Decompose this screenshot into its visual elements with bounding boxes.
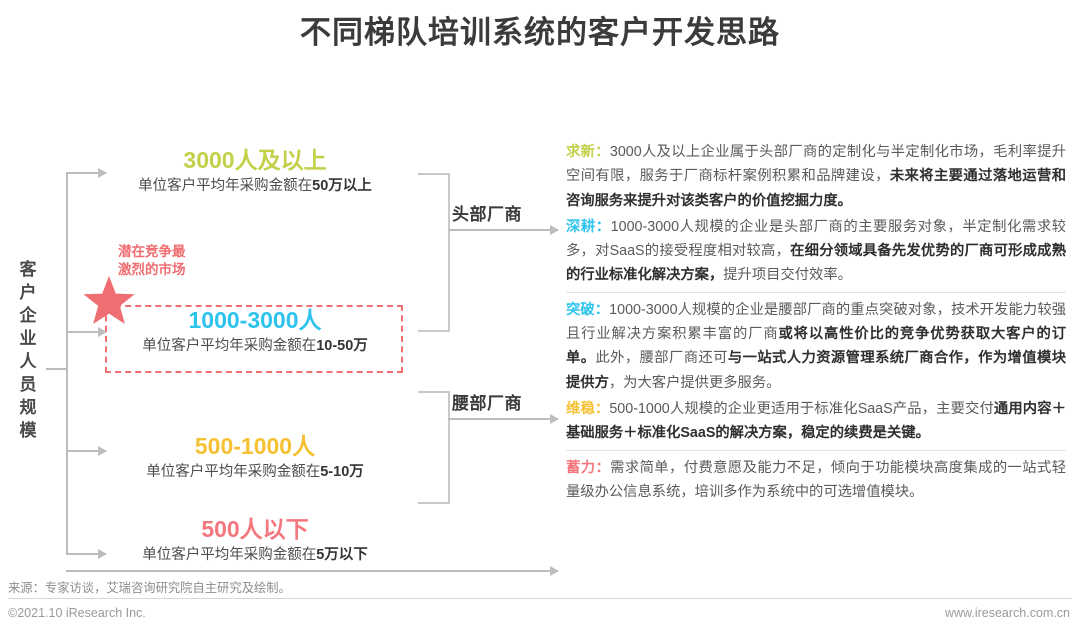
arrowhead-icon bbox=[550, 566, 559, 576]
paragraph-weiwen: 维稳：500-1000人规模的企业更适用于标准化SaaS产品，主要交付通用内容＋… bbox=[566, 397, 1066, 446]
branch-arrow-tier-4 bbox=[66, 553, 106, 555]
left-bracket-spine bbox=[66, 172, 68, 554]
group-bracket-bottom bbox=[418, 391, 450, 504]
paragraph-weiwen-normal-1: 500-1000人规模的企业更适用于标准化SaaS产品，主要交付 bbox=[609, 401, 994, 417]
tier-block-4: 500人以下 单位客户平均年采购金额在5万以下 bbox=[105, 515, 405, 566]
tier-2-desc-value: 10-50万 bbox=[316, 338, 368, 354]
paragraph-qiuxin: 求新：3000人及以上企业属于头部厂商的定制化与半定制化市场，毛利率提升空间有限… bbox=[566, 140, 1066, 213]
paragraph-qiuxin-tag: 求新： bbox=[566, 144, 610, 160]
tier-2-description: 单位客户平均年采购金额在10-50万 bbox=[105, 335, 405, 357]
paragraph-weiwen-tag: 维稳： bbox=[566, 401, 609, 417]
infographic-page: 不同梯队培训系统的客户开发思路 客户企业人员规模 3000人及以上 单位客户平均… bbox=[0, 0, 1080, 633]
panel-divider-2 bbox=[566, 450, 1066, 451]
copyright-text: ©2021.10 iResearch Inc. bbox=[8, 606, 146, 620]
panel-divider-1 bbox=[566, 292, 1066, 293]
tier-block-1: 3000人及以上 单位客户平均年采购金额在50万以上 bbox=[105, 146, 405, 197]
tier-4-title: 500人以下 bbox=[105, 515, 405, 543]
paragraph-tupo-normal-3: ，为大客户提供更多服务。 bbox=[609, 375, 781, 391]
arrow-to-waist-vendor-text bbox=[448, 418, 558, 420]
axis-label-company-size: 客户企业人员规模 bbox=[14, 258, 42, 442]
group-bracket-top bbox=[418, 173, 450, 332]
tier-3-desc-value: 5-10万 bbox=[320, 464, 364, 480]
branch-arrow-tier-2 bbox=[66, 331, 106, 333]
tier-1-description: 单位客户平均年采购金额在50万以上 bbox=[105, 175, 405, 197]
axis-connector-line bbox=[46, 368, 68, 370]
tier-2-desc-prefix: 单位客户平均年采购金额在 bbox=[142, 338, 316, 354]
branch-arrow-tier-3 bbox=[66, 450, 106, 452]
arrowhead-icon bbox=[550, 414, 559, 424]
tier-1-desc-prefix: 单位客户平均年采购金额在 bbox=[138, 178, 312, 194]
tier-3-desc-prefix: 单位客户平均年采购金额在 bbox=[146, 464, 320, 480]
tier-1-title: 3000人及以上 bbox=[105, 146, 405, 174]
paragraph-tupo: 突破：1000-3000人规模的企业是腰部厂商的重点突破对象，技术开发能力较强且… bbox=[566, 298, 1066, 395]
tier-4-description: 单位客户平均年采购金额在5万以下 bbox=[105, 544, 405, 566]
tier-block-2: 1000-3000人 单位客户平均年采购金额在10-50万 bbox=[105, 306, 405, 357]
group-label-waist-vendor: 腰部厂商 bbox=[452, 389, 522, 414]
paragraph-xuli-normal-1: 需求简单，付费意愿及能力不足，倾向于功能模块高度集成的一站式轻量级办公信息系统，… bbox=[566, 460, 1066, 500]
star-callout-line-1: 潜在竞争最 bbox=[118, 243, 186, 261]
arrow-to-head-vendor-text bbox=[448, 229, 558, 231]
tier-3-description: 单位客户平均年采购金额在5-10万 bbox=[105, 461, 405, 483]
paragraph-tupo-normal-2: 此外，腰部厂商还可 bbox=[595, 350, 727, 366]
tier-2-title: 1000-3000人 bbox=[105, 306, 405, 334]
paragraph-shengeng-normal-2: 提升项目交付效率。 bbox=[723, 267, 852, 283]
group-label-head-vendor: 头部厂商 bbox=[452, 200, 522, 225]
paragraph-xuli: 蓄力：需求简单，付费意愿及能力不足，倾向于功能模块高度集成的一站式轻量级办公信息… bbox=[566, 456, 1066, 505]
paragraph-shengeng: 深耕：1000-3000人规模的企业是头部厂商的主要服务对象，半定制化需求较多，… bbox=[566, 215, 1066, 288]
footer-divider bbox=[8, 598, 1072, 599]
website-url: www.iresearch.com.cn bbox=[945, 606, 1070, 620]
arrowhead-icon bbox=[550, 225, 559, 235]
analysis-panel: 求新：3000人及以上企业属于头部厂商的定制化与半定制化市场，毛利率提升空间有限… bbox=[566, 140, 1066, 506]
page-title: 不同梯队培训系统的客户开发思路 bbox=[0, 8, 1080, 58]
star-callout-line-2: 激烈的市场 bbox=[118, 261, 186, 279]
tier-4-desc-prefix: 单位客户平均年采购金额在 bbox=[142, 547, 316, 563]
arrow-to-small-vendor-text bbox=[66, 570, 558, 572]
star-callout-label: 潜在竞争最 激烈的市场 bbox=[118, 243, 186, 279]
paragraph-tupo-tag: 突破： bbox=[566, 302, 609, 318]
tier-block-3: 500-1000人 单位客户平均年采购金额在5-10万 bbox=[105, 432, 405, 483]
tier-4-desc-value: 5万以下 bbox=[316, 547, 368, 563]
source-note: 来源：专家访谈，艾瑞咨询研究院自主研究及绘制。 bbox=[8, 578, 291, 596]
branch-arrow-tier-1 bbox=[66, 172, 106, 174]
tier-3-title: 500-1000人 bbox=[105, 432, 405, 460]
paragraph-shengeng-tag: 深耕： bbox=[566, 219, 611, 235]
paragraph-xuli-tag: 蓄力： bbox=[566, 460, 610, 476]
tier-1-desc-value: 50万以上 bbox=[312, 178, 372, 194]
